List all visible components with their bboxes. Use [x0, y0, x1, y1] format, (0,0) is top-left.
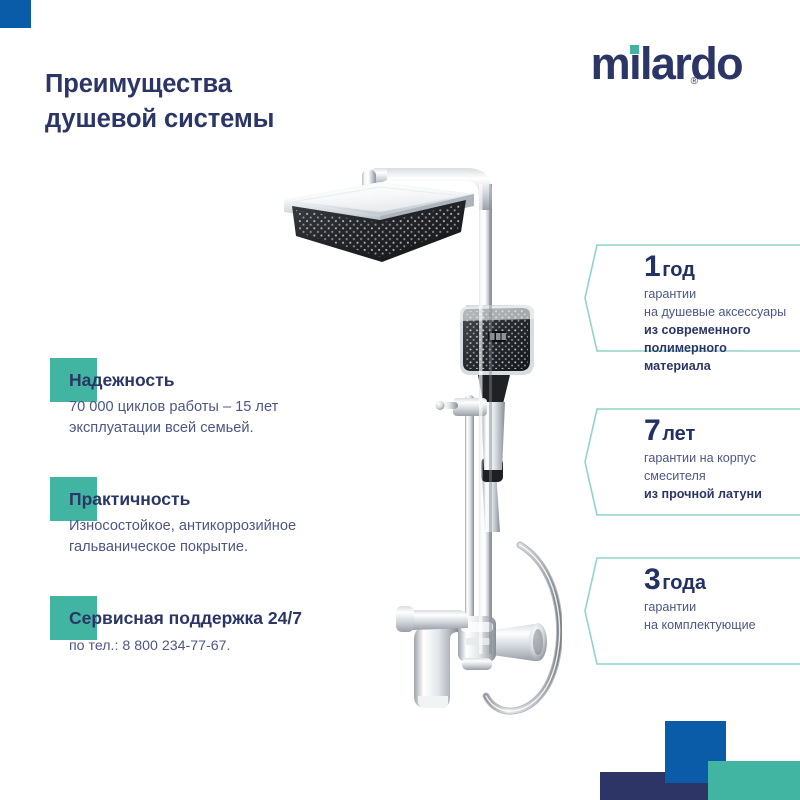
warranty-callout: 1год гарантии на душевые аксессуары из с…: [582, 244, 800, 352]
page-title: Преимущества душевой системы: [45, 67, 405, 137]
callout-unit: года: [662, 572, 706, 594]
poster-canvas: Преимущества душевой системы milardo ® Н…: [0, 0, 800, 800]
callout-line: гарантии на корпус: [644, 450, 762, 468]
shower-system-illustration: [262, 140, 562, 720]
top-left-blue-square: [0, 0, 31, 28]
callout-description: гарантии на комплектующие: [644, 599, 756, 635]
callout-line: из прочной латуни: [644, 486, 762, 504]
page-title-line-2: душевой системы: [45, 102, 405, 137]
warranty-callout: 7лет гарантии на корпус смесителя из про…: [582, 408, 800, 516]
callout-line: из современного: [644, 322, 794, 340]
brand-logo-wordmark: milardo: [591, 41, 742, 87]
callout-line: на комплектующие: [644, 617, 756, 635]
callout-line: смесителя: [644, 468, 762, 486]
callout-line: гарантии: [644, 599, 756, 617]
callout-unit: год: [662, 259, 695, 281]
bottom-teal-block: [708, 761, 800, 800]
callout-line: на душевые аксессуары: [644, 304, 794, 322]
shower-system-image: [262, 140, 562, 720]
callout-amount: 7лет: [644, 416, 695, 446]
callout-number: 1: [644, 250, 660, 283]
callout-line: гарантии: [644, 286, 794, 304]
brand-logo: milardo ®: [591, 41, 742, 87]
page-title-line-1: Преимущества: [45, 67, 405, 102]
brand-logo-teal-dot: [630, 45, 639, 54]
callout-unit: лет: [662, 423, 695, 445]
callout-amount: 3года: [644, 565, 706, 595]
callout-line: полимерного материала: [644, 340, 794, 376]
wall-mixer: [396, 606, 547, 708]
registered-trademark-symbol: ®: [691, 77, 698, 87]
callout-number: 3: [644, 563, 660, 596]
callout-content: 7лет гарантии на корпус смесителя из про…: [644, 408, 794, 516]
callout-content: 3года гарантии на комплектующие: [644, 557, 794, 665]
callout-content: 1год гарантии на душевые аксессуары из с…: [644, 244, 794, 352]
warranty-callout: 3года гарантии на комплектующие: [582, 557, 800, 665]
callout-number: 7: [644, 414, 660, 447]
callout-amount: 1год: [644, 252, 695, 282]
callout-description: гарантии на корпус смесителя из прочной …: [644, 450, 762, 504]
callout-description: гарантии на душевые аксессуары из соврем…: [644, 286, 794, 375]
